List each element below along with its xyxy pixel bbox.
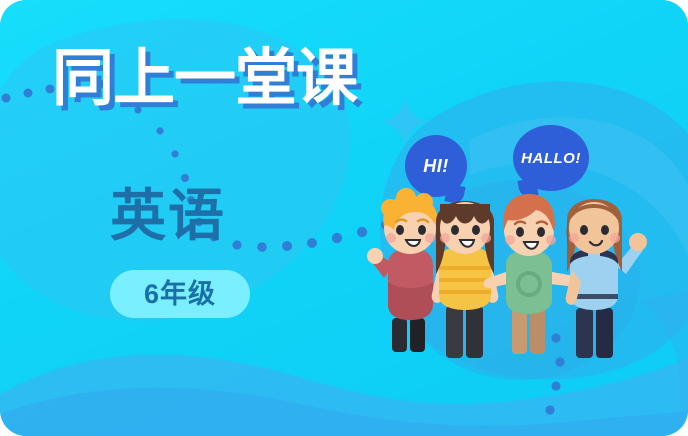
speech-bubble-hallo: HALLO! <box>513 125 589 191</box>
page-title: 同上一堂课 <box>52 48 357 110</box>
course-banner-card: 同上一堂课 英语 6年级 HI! HALLO! <box>0 0 688 436</box>
children-illustration <box>360 186 660 366</box>
child-waving-girl <box>566 199 647 358</box>
grade-badge: 6年级 <box>110 270 250 318</box>
speech-bubble-hi-text: HI! <box>423 156 449 177</box>
grade-badge-label: 6年级 <box>144 281 216 308</box>
speech-bubble-hallo-text: HALLO! <box>521 150 581 167</box>
child-blonde-boy <box>367 188 438 352</box>
subject-title: 英语 <box>110 188 226 244</box>
